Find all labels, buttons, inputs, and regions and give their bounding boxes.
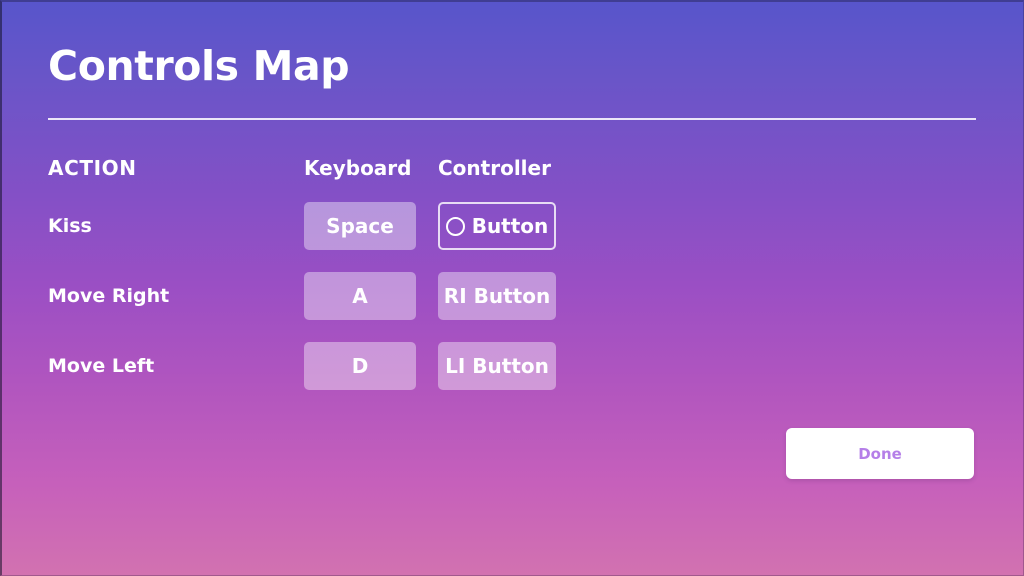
keyboard-binding-label: A — [352, 284, 367, 308]
column-header-keyboard-cell: Keyboard — [304, 156, 430, 180]
keyboard-binding-label: D — [352, 354, 369, 378]
column-header-action-cell: ACTION — [48, 156, 304, 180]
keyboard-cell: Space — [304, 202, 430, 250]
done-button[interactable]: Done — [786, 428, 974, 479]
action-cell: Kiss — [48, 215, 304, 237]
column-header-controller-cell: Controller — [438, 156, 556, 180]
controls-table: ACTION Keyboard Controller Kiss Space — [48, 150, 548, 412]
action-label: Move Left — [48, 355, 154, 377]
column-header-controller: Controller — [438, 156, 551, 180]
keyboard-cell: A — [304, 272, 430, 320]
controller-binding-chip[interactable]: LI Button — [438, 342, 556, 390]
action-label: Move Right — [48, 285, 169, 307]
table-row: Kiss Space Button — [48, 202, 548, 250]
action-label: Kiss — [48, 215, 92, 237]
title-divider — [48, 118, 976, 120]
column-header-keyboard: Keyboard — [304, 156, 411, 180]
controller-binding-chip[interactable]: RI Button — [438, 272, 556, 320]
controller-binding-label: RI Button — [444, 284, 550, 308]
controls-map-screen: Controls Map ACTION Keyboard Controller … — [0, 0, 1024, 576]
table-row: Move Left D LI Button — [48, 342, 548, 390]
table-header-row: ACTION Keyboard Controller — [48, 150, 548, 186]
keyboard-binding-label: Space — [326, 214, 394, 238]
controller-binding-label: Button — [472, 214, 549, 238]
action-cell: Move Right — [48, 285, 304, 307]
controller-binding-chip[interactable]: Button — [438, 202, 556, 250]
keyboard-cell: D — [304, 342, 430, 390]
keyboard-binding-chip[interactable]: D — [304, 342, 416, 390]
page-title: Controls Map — [48, 45, 349, 88]
controller-cell: RI Button — [438, 272, 556, 320]
action-cell: Move Left — [48, 355, 304, 377]
controller-cell: Button — [438, 202, 556, 250]
table-row: Move Right A RI Button — [48, 272, 548, 320]
controller-binding-label: LI Button — [445, 354, 549, 378]
circle-button-icon — [446, 217, 465, 236]
controller-cell: LI Button — [438, 342, 556, 390]
keyboard-binding-chip[interactable]: A — [304, 272, 416, 320]
column-header-action: ACTION — [48, 156, 137, 180]
keyboard-binding-chip[interactable]: Space — [304, 202, 416, 250]
